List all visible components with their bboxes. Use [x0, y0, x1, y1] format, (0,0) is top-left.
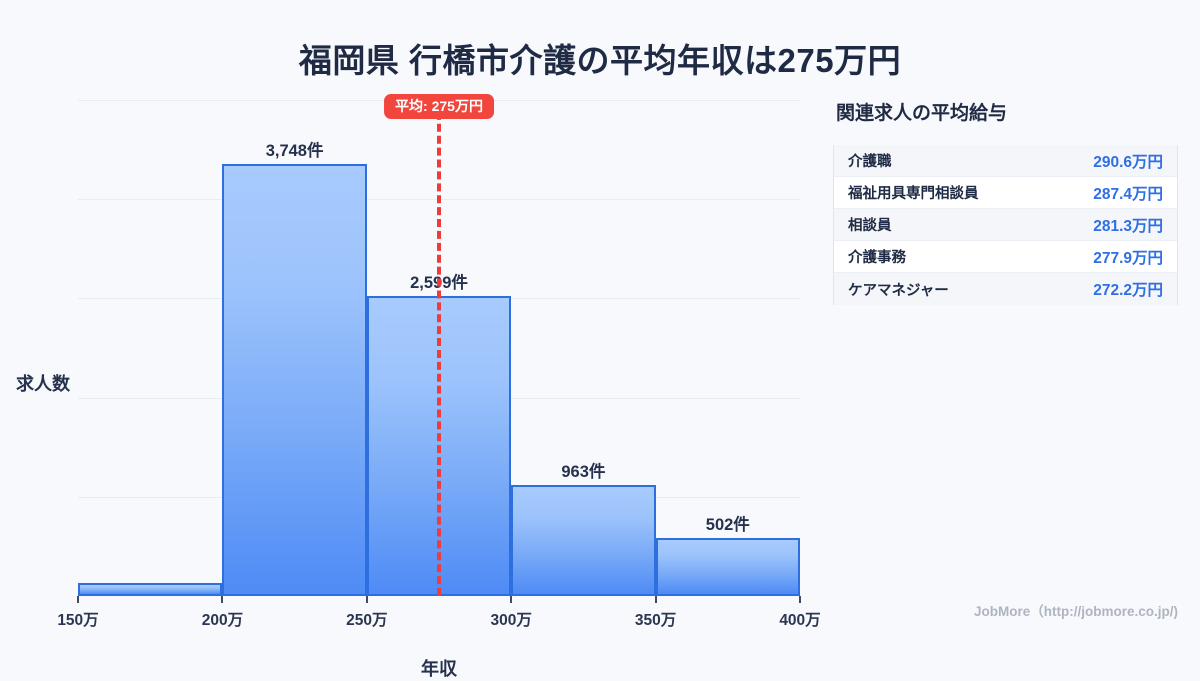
histogram-bar	[511, 485, 655, 596]
table-row: 福祉用具専門相談員287.4万円	[834, 177, 1177, 209]
x-axis-tick-mark	[366, 596, 368, 603]
x-axis-tick-label: 250万	[346, 608, 387, 630]
x-axis-title: 年収	[78, 655, 800, 681]
chart-page: 福岡県 行橋市介護の平均年収は275万円 求人数 3,748件2,599件963…	[0, 0, 1200, 630]
job-name-cell: 相談員	[848, 214, 892, 235]
bar-value-label: 3,748件	[266, 137, 324, 161]
x-axis-tick-label: 150万	[57, 608, 98, 630]
salary-value-cell: 290.6万円	[1093, 150, 1163, 172]
job-name-cell: ケアマネジャー	[848, 279, 949, 300]
salary-value-cell: 287.4万円	[1093, 182, 1163, 204]
average-marker-line	[437, 100, 441, 596]
related-salary-table: 介護職290.6万円福祉用具専門相談員287.4万円相談員281.3万円介護事務…	[833, 145, 1178, 305]
watermark-footer: JobMore（http://jobmore.co.jp/)	[974, 600, 1178, 620]
x-axis-tick-mark	[655, 596, 657, 603]
x-axis-tick-label: 400万	[779, 608, 820, 630]
related-salary-heading: 関連求人の平均給与	[836, 98, 1178, 125]
x-axis-tick-label: 300万	[491, 608, 532, 630]
job-name-cell: 福祉用具専門相談員	[848, 182, 979, 203]
x-axis-tick-mark	[799, 596, 801, 603]
average-badge: 平均: 275万円	[384, 94, 494, 119]
histogram-bar	[222, 164, 366, 596]
bar-value-label: 963件	[561, 458, 605, 482]
histogram-bar	[656, 538, 800, 596]
table-row: 介護職290.6万円	[834, 145, 1177, 177]
salary-value-cell: 272.2万円	[1093, 278, 1163, 300]
histogram-chart: 求人数 3,748件2,599件963件502件150万200万250万300万…	[0, 88, 820, 588]
table-row: 介護事務277.9万円	[834, 241, 1177, 273]
x-axis-tick-label: 200万	[202, 608, 243, 630]
y-axis-title: 求人数	[16, 370, 70, 396]
x-axis-tick-mark	[77, 596, 79, 603]
salary-value-cell: 281.3万円	[1093, 214, 1163, 236]
table-row: ケアマネジャー272.2万円	[834, 273, 1177, 305]
histogram-bar	[78, 583, 222, 596]
salary-value-cell: 277.9万円	[1093, 246, 1163, 268]
x-axis-tick-mark	[221, 596, 223, 603]
bar-value-label: 502件	[706, 511, 750, 535]
page-title: 福岡県 行橋市介護の平均年収は275万円	[0, 34, 1200, 82]
table-row: 相談員281.3万円	[834, 209, 1177, 241]
x-axis-tick-mark	[510, 596, 512, 603]
plot-area: 3,748件2,599件963件502件150万200万250万300万350万…	[78, 100, 800, 596]
x-axis-tick-label: 350万	[635, 608, 676, 630]
job-name-cell: 介護事務	[848, 246, 906, 267]
related-salary-panel: 関連求人の平均給与 介護職290.6万円福祉用具専門相談員287.4万円相談員2…	[833, 98, 1178, 305]
job-name-cell: 介護職	[848, 150, 892, 171]
